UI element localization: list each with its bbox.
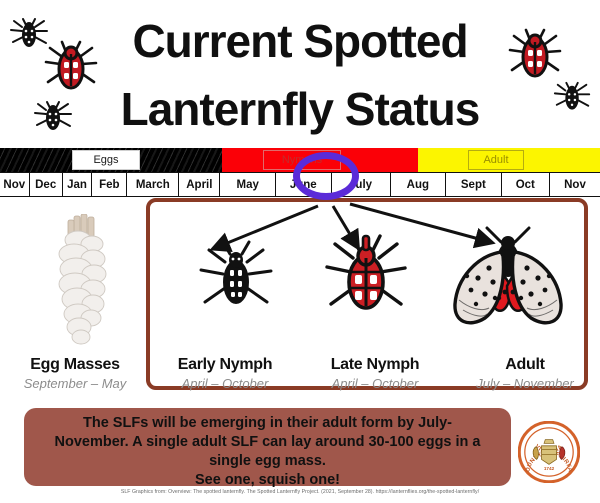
stage-name-1: Early Nymph [150, 355, 300, 375]
page-title-line-1: Current Spotted [0, 18, 600, 64]
stage-name-2: Late Nymph [300, 355, 450, 375]
month-cell-sept-10[interactable]: Sept [446, 173, 502, 196]
month-cell-april-5[interactable]: April [179, 173, 220, 196]
month-cell-nov-0[interactable]: Nov [0, 173, 30, 196]
source-credit: SLF Graphics from: Overview: The spotted… [0, 489, 600, 495]
month-cell-aug-9[interactable]: Aug [391, 173, 447, 196]
callout-line-1: The SLFs will be emerging in their adult… [38, 414, 497, 433]
july-highlight-circle [293, 152, 359, 200]
timeline-label-adult: Adult [468, 150, 524, 170]
callout-line-2: November. A single adult SLF can lay aro… [38, 433, 497, 452]
stage-0: Egg MassesSeptember – May [0, 355, 150, 397]
month-cell-may-6[interactable]: May [220, 173, 276, 196]
callout-box: The SLFs will be emerging in their adult… [24, 408, 511, 486]
month-cell-jan-2[interactable]: Jan [63, 173, 93, 196]
specimen-row [0, 198, 600, 353]
timeline-label-eggs: Eggs [72, 150, 140, 170]
month-cell-nov-12[interactable]: Nov [550, 173, 600, 196]
month-cell-dec-1[interactable]: Dec [30, 173, 63, 196]
stage-name-3: Adult [450, 355, 600, 375]
stage-1: Early NymphApril – October [150, 355, 300, 397]
stage-2: Late NymphApril – October [300, 355, 450, 397]
fairfax-county-seal: COUNTY OF FAIRFAX VIRGINIA 1742 [518, 421, 580, 483]
callout-line-3: single egg mass. [38, 452, 497, 471]
stage-3: AdultJuly – November [450, 355, 600, 397]
seal-year: 1742 [544, 466, 555, 471]
page-title-line-2: Lanternfly Status [0, 86, 600, 132]
stage-range-3: July – November [450, 375, 600, 392]
adult-forewing-left [455, 252, 504, 323]
adult-forewing-right [513, 252, 562, 323]
adult-lanternfly-image [443, 226, 573, 341]
stage-range-1: April – October [150, 375, 300, 392]
month-cell-oct-11[interactable]: Oct [502, 173, 550, 196]
month-cell-feb-3[interactable]: Feb [92, 173, 127, 196]
late-nymph-image [323, 234, 409, 320]
month-cell-march-4[interactable]: March [127, 173, 179, 196]
stage-label-row: Egg MassesSeptember – MayEarly NymphApri… [0, 355, 600, 397]
early-nymph-image [195, 240, 277, 318]
title-block: Current Spotted Lanternfly Status [0, 0, 600, 143]
stage-range-0: September – May [0, 375, 150, 392]
callout-line-4: See one, squish one! [38, 471, 497, 490]
egg-mass-image [48, 214, 120, 349]
stage-range-2: April – October [300, 375, 450, 392]
stage-name-0: Egg Masses [0, 355, 150, 375]
